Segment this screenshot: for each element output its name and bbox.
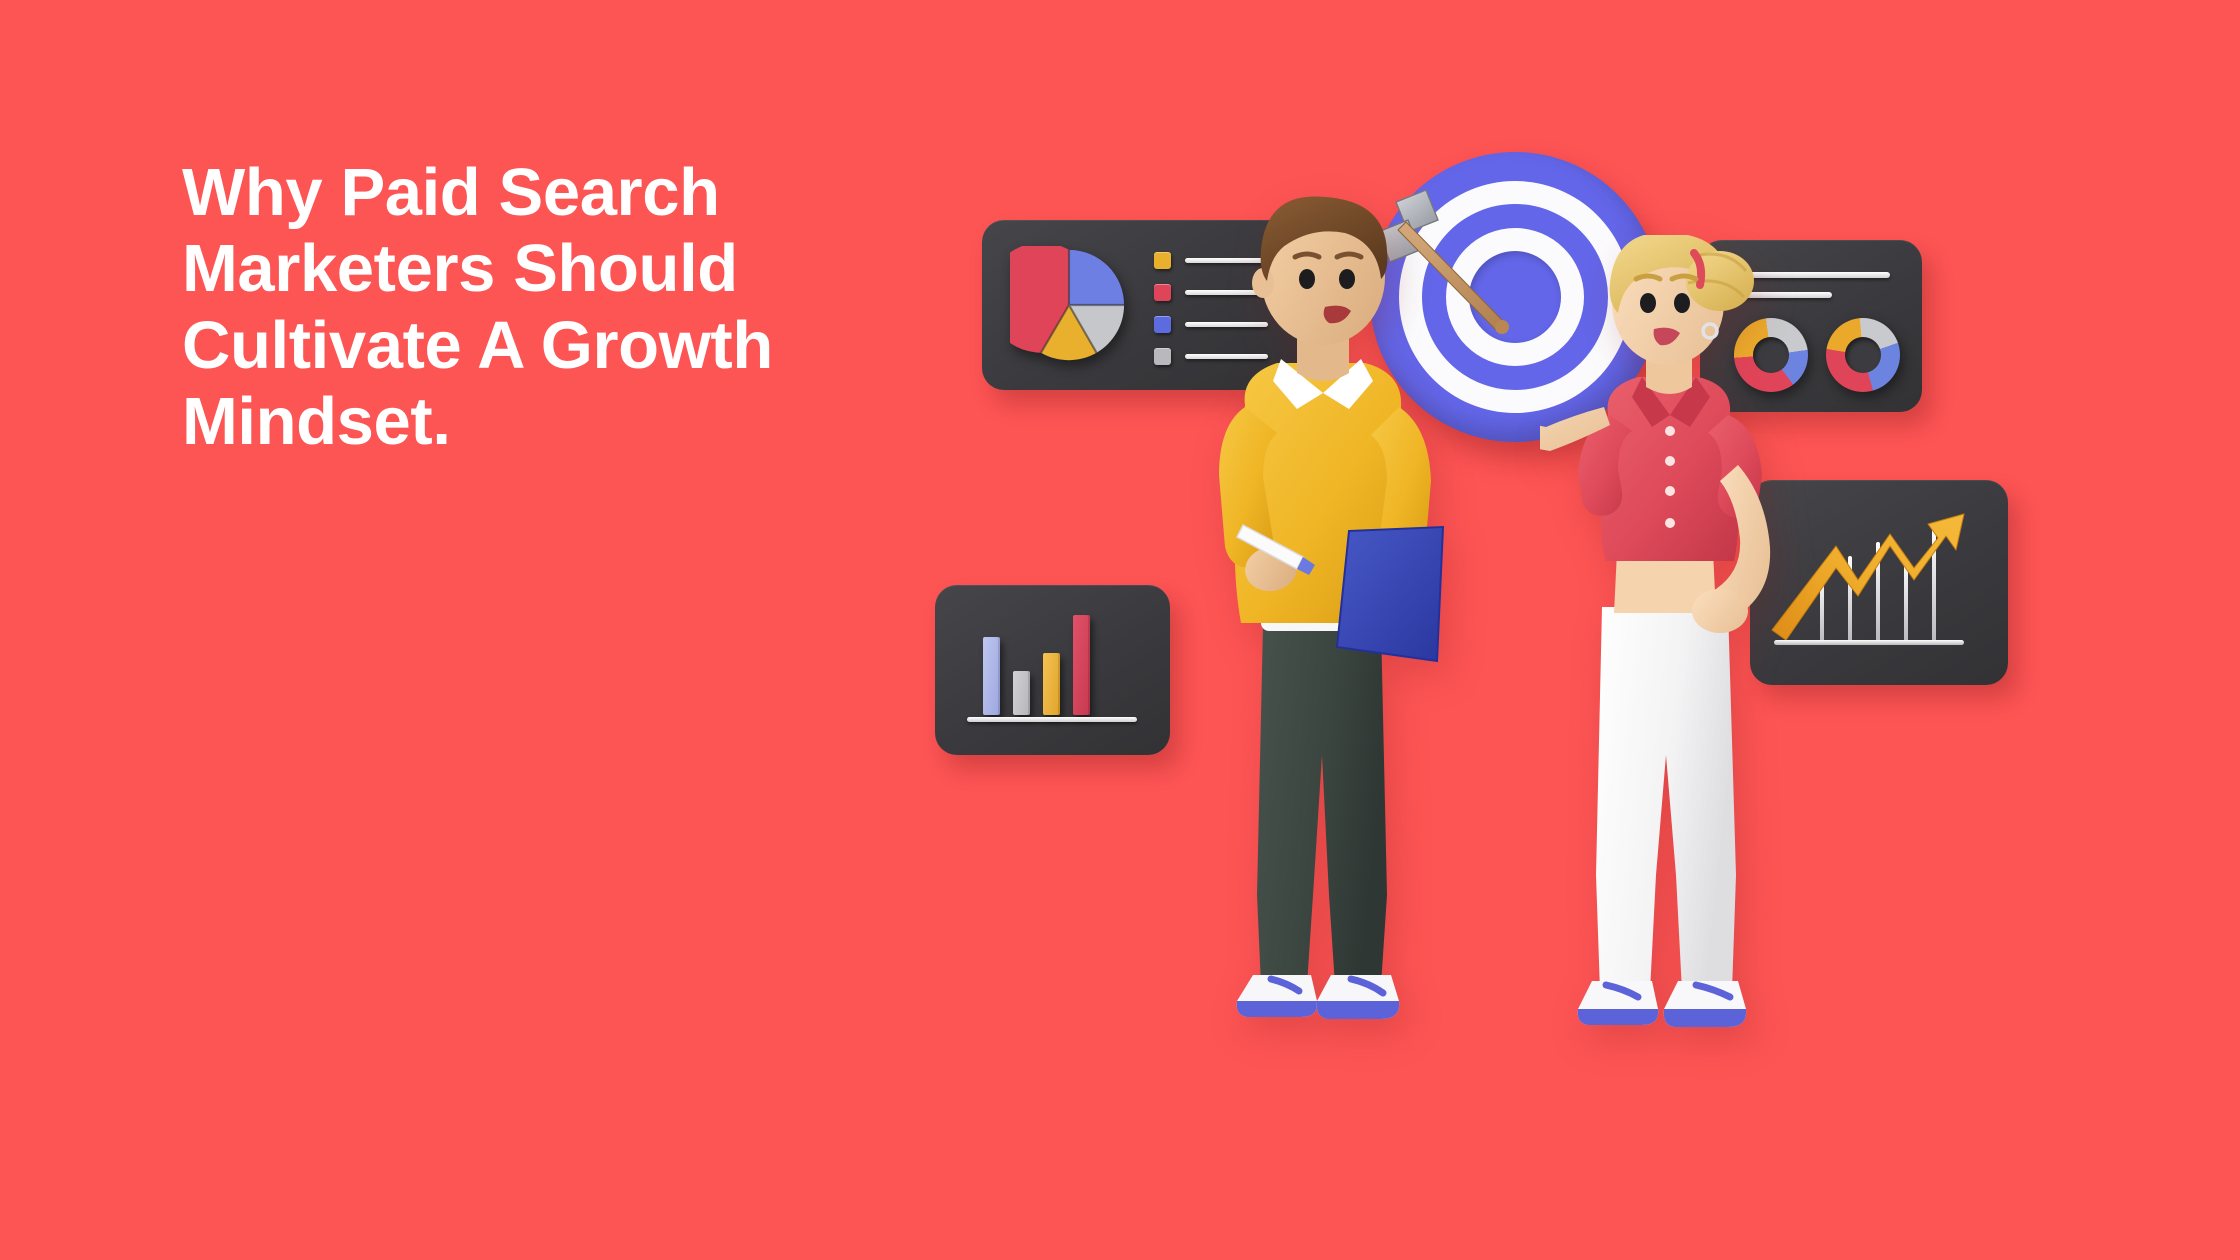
bar-4 bbox=[1073, 615, 1090, 715]
hero-illustration bbox=[950, 90, 2080, 1160]
woman-gesturing bbox=[1540, 235, 1860, 1045]
bar-chart-icon bbox=[983, 615, 1090, 715]
bar-2 bbox=[1013, 671, 1030, 715]
tablet-icon bbox=[1337, 527, 1443, 661]
man-eye-right bbox=[1339, 269, 1355, 289]
legend-swatch-red bbox=[1154, 284, 1171, 301]
legend-swatch-yellow bbox=[1154, 252, 1171, 269]
legend-swatch-gray bbox=[1154, 348, 1171, 365]
man-with-tablet bbox=[1185, 195, 1525, 1040]
man-figure bbox=[1185, 195, 1525, 1040]
man-pants bbox=[1257, 625, 1387, 985]
woman-hand-on-hip bbox=[1692, 589, 1748, 633]
legend-swatch-blue bbox=[1154, 316, 1171, 333]
slide-canvas: Why Paid Search Marketers Should Cultiva… bbox=[0, 0, 2240, 1260]
man-eye-left bbox=[1299, 269, 1315, 289]
woman-figure bbox=[1540, 235, 1860, 1045]
woman-eye-right bbox=[1674, 293, 1690, 313]
bar-chart-card bbox=[935, 585, 1170, 755]
bar-3 bbox=[1043, 653, 1060, 715]
pie-chart-icon bbox=[1010, 246, 1128, 364]
woman-pants bbox=[1596, 607, 1736, 991]
woman-eye-left bbox=[1640, 293, 1656, 313]
bar-1 bbox=[983, 637, 1000, 715]
woman-shoes bbox=[1578, 981, 1746, 1027]
bar-chart-axis bbox=[967, 717, 1137, 722]
woman-head bbox=[1610, 235, 1754, 365]
man-shoes bbox=[1237, 975, 1399, 1019]
page-title: Why Paid Search Marketers Should Cultiva… bbox=[182, 155, 942, 461]
man-head bbox=[1252, 196, 1387, 345]
